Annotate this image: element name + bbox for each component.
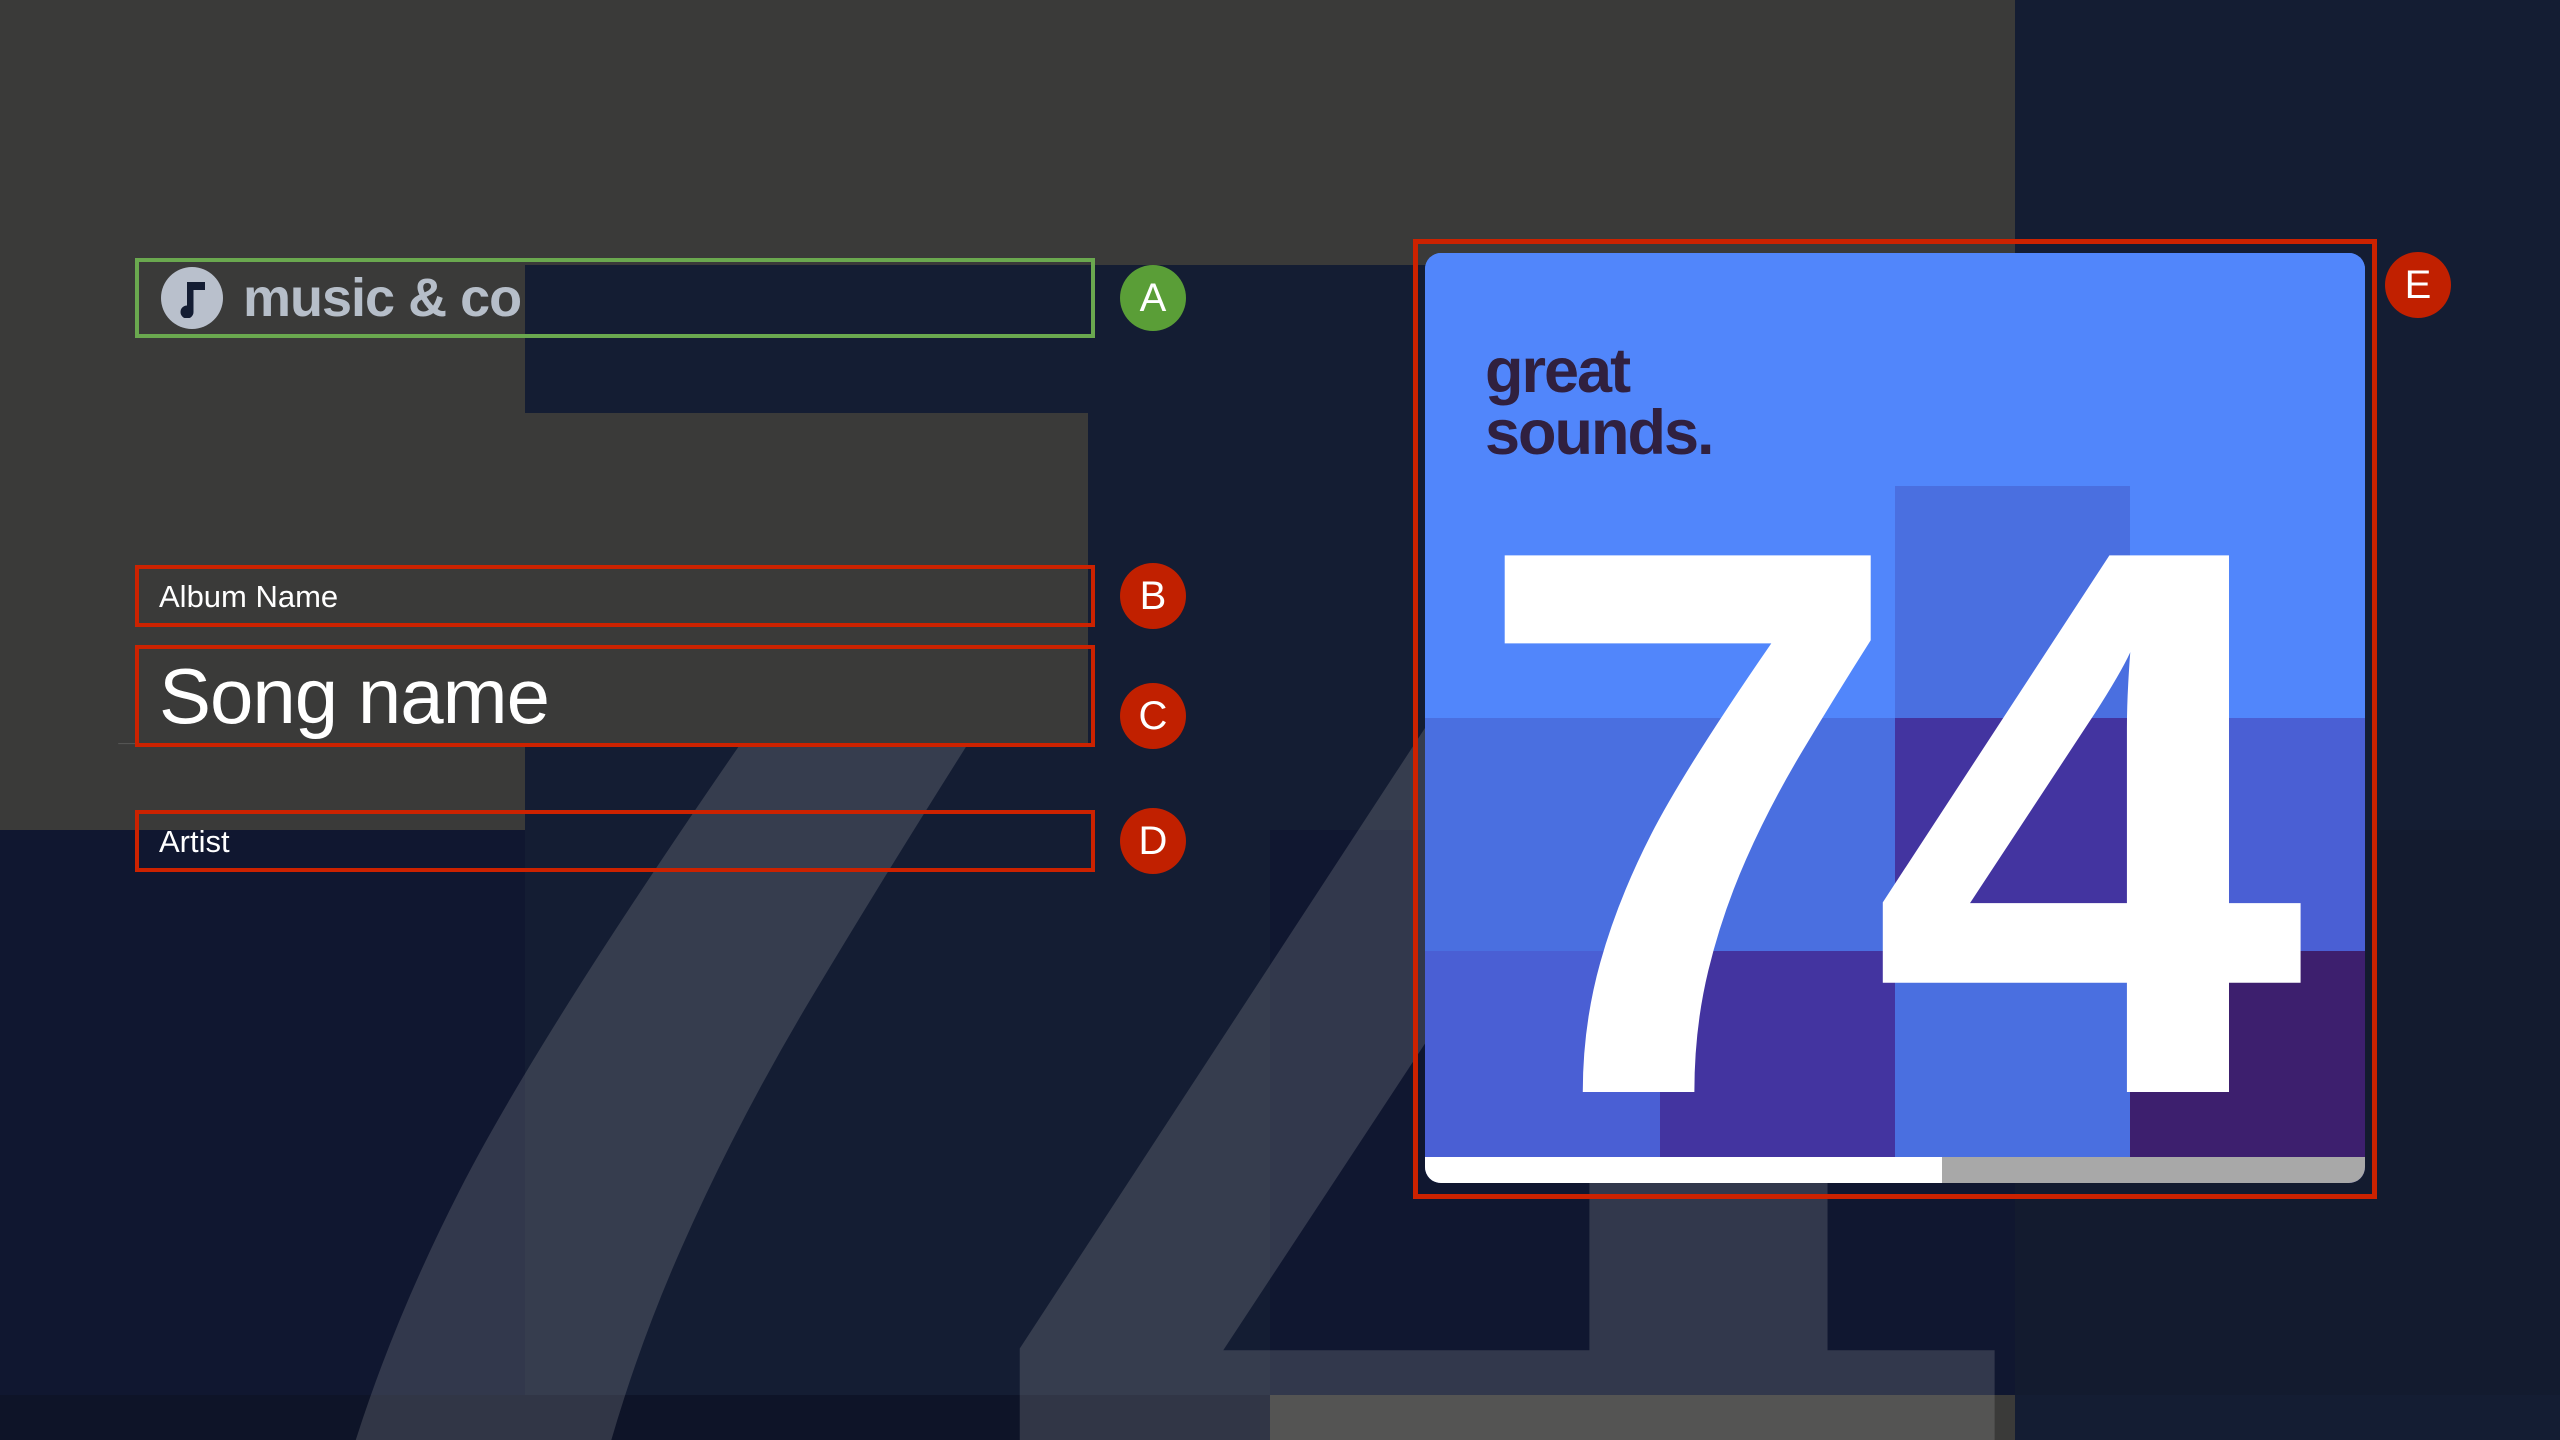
brand-name-label: music & co <box>243 271 521 325</box>
song-name-label: Song name <box>159 657 549 735</box>
artist-label: Artist <box>159 826 230 857</box>
brand-header[interactable]: music & co <box>135 258 1095 338</box>
annotation-badge-c: C <box>1120 683 1186 749</box>
album-name-field[interactable]: Album Name <box>135 565 1095 627</box>
album-name-label: Album Name <box>159 581 338 612</box>
music-note-circle-icon <box>161 267 223 329</box>
annotation-badge-d: D <box>1120 808 1186 874</box>
annotation-badge-a: A <box>1120 265 1186 331</box>
song-name-field[interactable]: Song name <box>135 645 1095 747</box>
album-art-highlight-box <box>1413 239 2377 1199</box>
annotation-badge-e: E <box>2385 252 2451 318</box>
annotation-badge-b: B <box>1120 563 1186 629</box>
artist-field[interactable]: Artist <box>135 810 1095 872</box>
background-tile <box>2015 0 2560 265</box>
